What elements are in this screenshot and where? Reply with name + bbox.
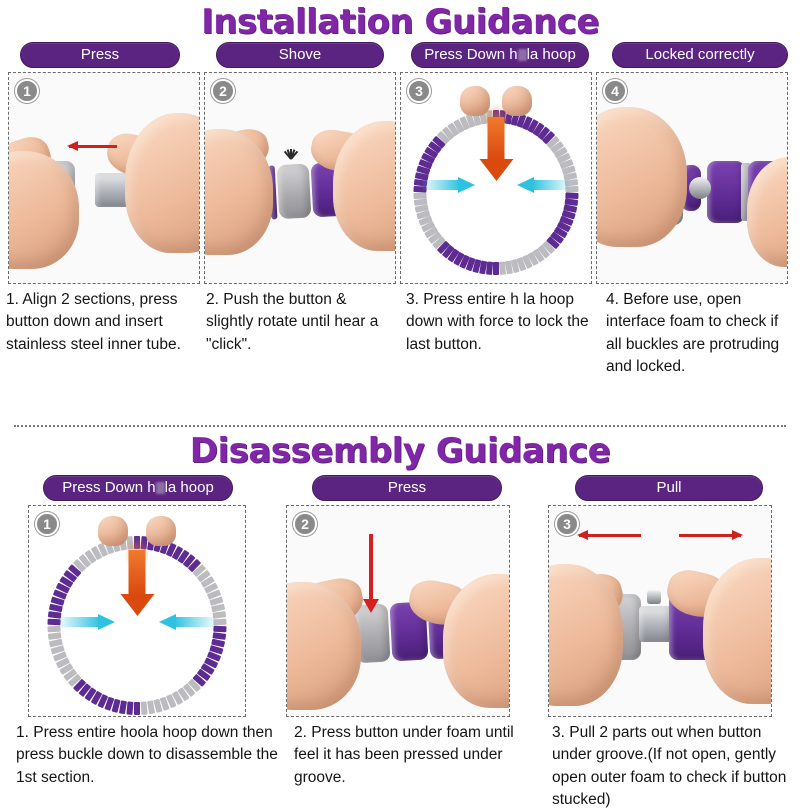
- redaction-block: [518, 49, 527, 61]
- installation-caption-row: 1. Align 2 sections, press button down a…: [0, 284, 800, 379]
- hand-left: [460, 86, 490, 116]
- foam-segment-purple: [707, 161, 745, 223]
- arrow-right-red: [679, 534, 741, 537]
- hand-right: [502, 86, 532, 116]
- pill-press-2: Press: [312, 475, 502, 501]
- arrow-left-red: [579, 534, 641, 537]
- photo-scene-align-sections: [9, 73, 199, 283]
- caption-step-1: 1. Align 2 sections, press button down a…: [0, 284, 200, 379]
- photo-scene-check-buckles: [597, 73, 787, 283]
- step-badge: 4: [603, 79, 627, 103]
- pill-pull: Pull: [575, 475, 763, 501]
- photo-scene-pull-two-parts: [549, 506, 771, 716]
- step-badge: 1: [15, 79, 39, 103]
- hand-left: [596, 107, 687, 247]
- install-panel-1: 1: [8, 72, 200, 284]
- hands-on-hoop: [460, 86, 532, 116]
- pill-locked-correctly: Locked correctly: [612, 42, 788, 68]
- pill-press-1: Press: [20, 42, 180, 68]
- foam-segment-gray: [276, 163, 311, 219]
- install-panel-2: 2: [204, 72, 396, 284]
- step-badge: 2: [211, 79, 235, 103]
- caption-disassembly-2: 2. Press button under foam until feel it…: [288, 717, 546, 812]
- step-badge: 3: [555, 512, 579, 536]
- hoop-illustration: [29, 506, 245, 716]
- disassembly-panel-3: 3: [548, 505, 772, 717]
- pill-label: Press Down h: [62, 479, 155, 496]
- photo-scene-press-button-under-foam: [287, 506, 509, 716]
- disassembly-title: Disassembly Guidance: [0, 427, 800, 471]
- arrow-left-cyan: [517, 177, 569, 193]
- redaction-block: [156, 482, 165, 494]
- pill-label: Shove: [279, 46, 322, 63]
- hoop-segment: [134, 702, 140, 715]
- disassembly-pill-row: Press Down hla hoop Press Pull: [0, 475, 800, 501]
- arrow-down-orange: [129, 550, 146, 596]
- hoop-segment: [213, 619, 226, 626]
- pill-label: Press: [388, 479, 426, 496]
- photo-scene-push-button-click: [205, 73, 395, 283]
- pill-label: Locked correctly: [645, 46, 754, 63]
- hoop-illustration: [401, 73, 591, 283]
- arrow-right-cyan: [59, 614, 115, 630]
- hand-right: [146, 516, 176, 546]
- step-badge: 3: [407, 79, 431, 103]
- arrow-down-red: [369, 534, 373, 600]
- hoop-segment: [486, 262, 493, 275]
- caption-step-2: 2. Push the button & slightly rotate unt…: [200, 284, 400, 379]
- caption-step-4: 4. Before use, open interface foam to ch…: [600, 284, 800, 379]
- installation-panel-row: 1 2: [0, 68, 800, 284]
- pill-label-suffix: la hoop: [165, 479, 214, 496]
- install-panel-3: 3: [400, 72, 592, 284]
- disassembly-panel-1: 1: [28, 505, 246, 717]
- caption-disassembly-3: 3. Pull 2 parts out when button under gr…: [546, 717, 800, 812]
- click-burst-icon: [267, 133, 313, 159]
- pill-label-suffix: la hoop: [527, 46, 576, 63]
- hoop-segment: [140, 702, 147, 715]
- buckle-button: [647, 590, 661, 604]
- disassembly-panel-2: 2: [286, 505, 510, 717]
- pill-label: Press Down h: [424, 46, 517, 63]
- disassembly-panel-row: 1 2: [0, 501, 800, 717]
- caption-step-3: 3. Press entire h la hoop down with forc…: [400, 284, 600, 379]
- arrow-left-cyan: [159, 614, 215, 630]
- hoop-segment: [499, 262, 506, 275]
- step-badge: 2: [293, 512, 317, 536]
- hoop-segment: [493, 262, 499, 275]
- hoop-segment: [413, 193, 426, 200]
- infographic-page: Installation Guidance Press Shove Press …: [0, 0, 800, 800]
- caption-disassembly-1: 1. Press entire hoola hoop down then pre…: [10, 717, 288, 812]
- hand-right: [125, 113, 200, 253]
- arrow-down-orange: [488, 117, 505, 161]
- hand-left: [98, 516, 128, 546]
- arrow-right-cyan: [423, 177, 475, 193]
- install-panel-4: 4: [596, 72, 788, 284]
- step-badge: 1: [35, 512, 59, 536]
- disassembly-caption-row: 1. Press entire hoola hoop down then pre…: [0, 717, 800, 812]
- pill-shove: Shove: [216, 42, 384, 68]
- stainless-inner-tube: [639, 606, 673, 642]
- pill-label: Press: [81, 46, 119, 63]
- pill-press-down-hula-hoop-2: Press Down hla hoop: [43, 475, 233, 501]
- hoop-segment: [126, 702, 133, 715]
- installation-pill-row: Press Shove Press Down hla hoop Locked c…: [0, 42, 800, 68]
- buckle-button: [689, 177, 711, 199]
- hands-on-hoop: [98, 516, 176, 546]
- pill-label: Pull: [656, 479, 681, 496]
- pill-press-down-hula-hoop-1: Press Down hla hoop: [411, 42, 589, 68]
- installation-title: Installation Guidance: [0, 0, 800, 42]
- arrow-left-red: [69, 145, 117, 148]
